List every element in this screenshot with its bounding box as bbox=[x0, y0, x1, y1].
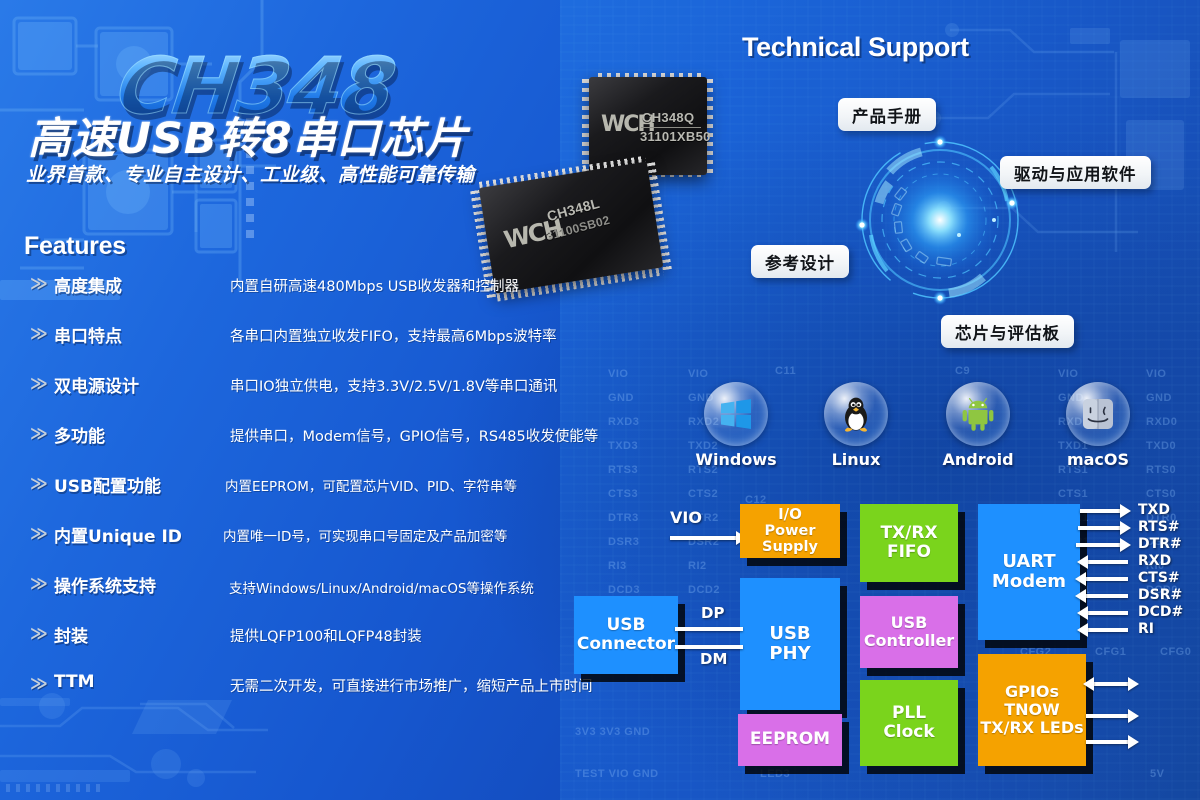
block-line: USB bbox=[769, 624, 810, 644]
block-usb-connector: USB Connector bbox=[574, 596, 678, 674]
glowing-tech-circle-icon bbox=[845, 125, 1035, 315]
block-line: PHY bbox=[769, 644, 810, 664]
uart-signal-label: RTS# bbox=[1138, 519, 1180, 535]
wire-label-dp: DP bbox=[701, 604, 724, 622]
poster-root: VIO GND RXD3 TXD3 RTS3 CTS3 DTR3 DSR3 RI… bbox=[0, 0, 1200, 800]
block-line: I/O bbox=[778, 506, 802, 523]
feature-item: ≫ TTM 无需二次开发，可直接进行市场推广，缩短产品上市时间 bbox=[30, 674, 630, 724]
feature-title: 封装 bbox=[54, 622, 88, 647]
os-label: Android bbox=[924, 450, 1032, 469]
uart-signal-label: RI bbox=[1138, 621, 1154, 637]
wire-label-vio: VIO bbox=[670, 508, 702, 527]
feature-desc: 内置自研高速480Mbps USB收发器和控制器 bbox=[230, 275, 519, 296]
block-txrx-fifo: TX/RX FIFO bbox=[860, 504, 958, 582]
uart-signal-label: DTR# bbox=[1138, 536, 1182, 552]
os-label: Windows bbox=[682, 450, 790, 469]
os-item-android: Android bbox=[924, 382, 1032, 469]
block-diagram: VIO I/O Power Supply TX/RX FIFO UART Mod… bbox=[570, 492, 1200, 782]
feature-desc: 各串口内置独立收发FIFO，支持最高6Mbps波特率 bbox=[230, 325, 557, 346]
chevron-double-right-icon: ≫ bbox=[30, 675, 48, 692]
os-item-windows: Windows bbox=[682, 382, 790, 469]
macos-finder-icon bbox=[1066, 382, 1130, 446]
feature-item: ≫ USB配置功能 内置EEPROM，可配置芯片VID、PID、字符串等 bbox=[30, 474, 630, 524]
android-robot-icon bbox=[946, 382, 1010, 446]
os-item-linux: Linux bbox=[802, 382, 910, 469]
block-eeprom: EEPROM bbox=[738, 714, 842, 766]
feature-item: ≫ 多功能 提供串口，Modem信号，GPIO信号，RS485收发使能等 bbox=[30, 424, 630, 474]
chip-ch348q-part: CH348Q bbox=[642, 110, 694, 125]
feature-desc: 提供串口，Modem信号，GPIO信号，RS485收发使能等 bbox=[230, 425, 598, 446]
feature-item: ≫ 串口特点 各串口内置独立收发FIFO，支持最高6Mbps波特率 bbox=[30, 324, 630, 374]
feature-item: ≫ 高度集成 内置自研高速480Mbps USB收发器和控制器 bbox=[30, 274, 630, 324]
features-heading: Features bbox=[24, 232, 126, 261]
uart-signal-label: CTS# bbox=[1138, 570, 1180, 586]
block-gpios: GPIOs TNOW TX/RX LEDs bbox=[978, 654, 1086, 766]
block-usb-phy: USB PHY bbox=[740, 578, 840, 710]
block-line: USB bbox=[606, 616, 645, 635]
feature-desc: 提供LQFP100和LQFP48封装 bbox=[230, 625, 422, 646]
feature-item: ≫ 双电源设计 串口IO独立供电，支持3.3V/2.5V/1.8V等串口通讯 bbox=[30, 374, 630, 424]
chevron-double-right-icon: ≫ bbox=[30, 625, 48, 642]
os-support-row: Windows Linux bbox=[690, 382, 1190, 478]
block-uart-modem: UART Modem bbox=[978, 504, 1080, 640]
block-line: UART bbox=[1002, 552, 1055, 572]
chip-ch348q-lot: 31101XB50 bbox=[640, 129, 711, 144]
feature-desc: 支持Windows/Linux/Android/macOS等操作系统 bbox=[229, 577, 534, 597]
feature-title: 高度集成 bbox=[54, 272, 122, 297]
support-pill-drivers-and-software[interactable]: 驱动与应用软件 bbox=[1000, 156, 1151, 189]
block-line: TX/RX bbox=[880, 524, 937, 543]
features-list: ≫ 高度集成 内置自研高速480Mbps USB收发器和控制器 ≫ 串口特点 各… bbox=[30, 274, 630, 724]
chevron-double-right-icon: ≫ bbox=[30, 425, 48, 442]
block-line: Clock bbox=[883, 723, 934, 742]
block-line: USB bbox=[891, 614, 928, 632]
chevron-double-right-icon: ≫ bbox=[30, 375, 48, 392]
os-label: macOS bbox=[1044, 450, 1152, 469]
chevron-double-right-icon: ≫ bbox=[30, 275, 48, 292]
block-usb-controller: USB Controller bbox=[860, 596, 958, 668]
block-pll-clock: PLL Clock bbox=[860, 680, 958, 766]
feature-desc: 内置唯一ID号，可实现串口号固定及产品加密等 bbox=[223, 525, 507, 545]
block-line: Modem bbox=[992, 572, 1066, 592]
block-line: TNOW bbox=[1004, 701, 1060, 719]
feature-title: 多功能 bbox=[54, 422, 105, 447]
uart-signal-label: DSR# bbox=[1138, 587, 1182, 603]
block-line: FIFO bbox=[887, 543, 931, 562]
block-io-power-supply: I/O Power Supply bbox=[740, 504, 840, 558]
uart-signal-label: TXD bbox=[1138, 502, 1170, 518]
windows-logo-icon bbox=[704, 382, 768, 446]
feature-title: 操作系统支持 bbox=[54, 572, 156, 597]
support-pill-reference-design[interactable]: 参考设计 bbox=[751, 245, 849, 278]
chevron-double-right-icon: ≫ bbox=[30, 575, 48, 592]
os-item-macos: macOS bbox=[1044, 382, 1152, 469]
block-line: Power Supply bbox=[740, 523, 840, 555]
feature-title: 内置Unique ID bbox=[54, 522, 182, 547]
product-subtitle-cn: 业界首款、专业自主设计、工业级、高性能可靠传输 bbox=[26, 160, 475, 187]
chevron-double-right-icon: ≫ bbox=[30, 325, 48, 342]
block-line: TX/RX LEDs bbox=[980, 719, 1083, 737]
os-label: Linux bbox=[802, 450, 910, 469]
block-line: GPIOs bbox=[1005, 683, 1059, 701]
feature-desc: 无需二次开发，可直接进行市场推广，缩短产品上市时间 bbox=[230, 675, 593, 696]
block-line: EEPROM bbox=[750, 730, 830, 749]
linux-penguin-icon bbox=[824, 382, 888, 446]
feature-title: TTM bbox=[54, 672, 95, 692]
feature-desc: 串口IO独立供电，支持3.3V/2.5V/1.8V等串口通讯 bbox=[230, 375, 557, 396]
support-pill-chips-and-eval-board[interactable]: 芯片与评估板 bbox=[941, 315, 1074, 348]
uart-signal-label: RXD bbox=[1138, 553, 1171, 569]
block-line: Connector bbox=[577, 635, 675, 654]
technical-support-heading: Technical Support bbox=[742, 32, 969, 63]
uart-signal-label: DCD# bbox=[1138, 604, 1183, 620]
feature-title: 串口特点 bbox=[54, 322, 122, 347]
feature-item: ≫ 内置Unique ID 内置唯一ID号，可实现串口号固定及产品加密等 bbox=[30, 524, 630, 574]
wire-label-dm: DM bbox=[700, 650, 727, 668]
support-pill-product-manual[interactable]: 产品手册 bbox=[838, 98, 936, 131]
feature-desc: 内置EEPROM，可配置芯片VID、PID、字符串等 bbox=[225, 475, 517, 495]
feature-title: USB配置功能 bbox=[54, 472, 161, 497]
block-line: Controller bbox=[864, 632, 954, 650]
feature-item: ≫ 操作系统支持 支持Windows/Linux/Android/macOS等操… bbox=[30, 574, 630, 624]
feature-title: 双电源设计 bbox=[54, 372, 139, 397]
feature-item: ≫ 封装 提供LQFP100和LQFP48封装 bbox=[30, 624, 630, 674]
chevron-double-right-icon: ≫ bbox=[30, 525, 48, 542]
chevron-double-right-icon: ≫ bbox=[30, 475, 48, 492]
product-tagline-cn: 高速USB转8串口芯片 bbox=[28, 104, 469, 166]
block-line: PLL bbox=[892, 704, 926, 723]
